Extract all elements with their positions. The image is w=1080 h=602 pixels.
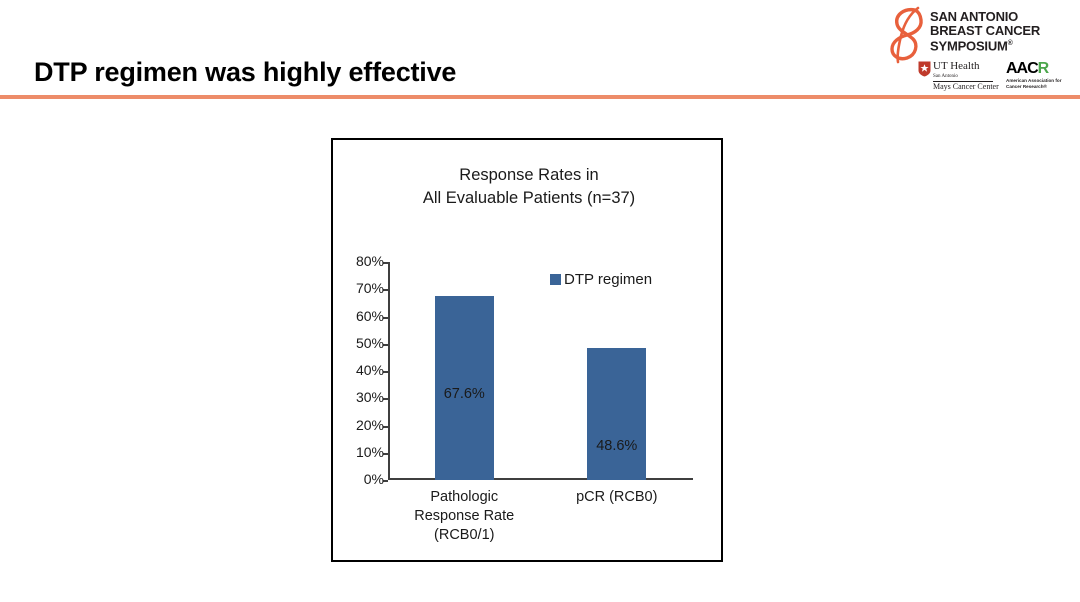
registered-mark: ® — [1008, 40, 1013, 47]
chart-plot-area: 80%70%60%50%40%30%20%10%0% 67.6%48.6% Pa… — [388, 260, 693, 482]
ut-health-center: Mays Cancer Center — [933, 82, 999, 91]
aacr-logo: AACR American Association for Cancer Res… — [1006, 60, 1068, 93]
ut-health-city: San Antonio — [933, 74, 958, 79]
partner-logos: UT Health San Antonio Mays Cancer Center… — [918, 60, 1068, 96]
x-axis-category-label-line: Response Rate — [388, 507, 541, 526]
sabcs-line-3-text: SYMPOSIUM — [930, 38, 1008, 53]
y-axis-tick-label: 80% — [338, 253, 384, 269]
x-axis-category-label-line: pCR (RCB0) — [541, 488, 694, 507]
ut-health-shield-icon — [918, 61, 931, 77]
bar-value-label: 48.6% — [579, 438, 654, 454]
y-axis-tick-label: 40% — [338, 362, 384, 378]
x-axis-category-label: PathologicResponse Rate(RCB0/1) — [388, 488, 541, 545]
y-axis-tick-label: 30% — [338, 389, 384, 405]
x-axis-line — [388, 478, 693, 480]
page-title: DTP regimen was highly effective — [34, 57, 456, 88]
legend-swatch-dtp-regimen — [550, 274, 561, 285]
ut-health-name: UT Health — [933, 60, 980, 72]
sabcs-line-1: SAN ANTONIO — [930, 10, 1068, 24]
y-axis-tick-label: 10% — [338, 444, 384, 460]
y-axis-tick-label: 50% — [338, 335, 384, 351]
sabcs-ribbon-icon — [888, 6, 928, 64]
legend-label-dtp-regimen: DTP regimen — [564, 271, 652, 288]
y-axis-tick-label: 70% — [338, 280, 384, 296]
x-axis-category-label-line: (RCB0/1) — [388, 526, 541, 545]
sabcs-wordmark: SAN ANTONIO BREAST CANCER SYMPOSIUM® — [930, 10, 1068, 53]
sabcs-line-2: BREAST CANCER — [930, 24, 1068, 38]
x-axis-category-label: pCR (RCB0) — [541, 488, 694, 507]
chart-title: Response Rates in All Evaluable Patients… — [333, 164, 725, 210]
chart-title-line-1: Response Rates in — [333, 164, 725, 187]
chart-legend: DTP regimen — [550, 271, 652, 288]
y-axis-tick-label: 60% — [338, 308, 384, 324]
bar — [587, 348, 646, 480]
logo-block: SAN ANTONIO BREAST CANCER SYMPOSIUM® UT … — [888, 4, 1068, 96]
chart-title-line-2: All Evaluable Patients (n=37) — [333, 187, 725, 210]
aacr-wordmark: AACR — [1006, 60, 1048, 78]
y-axis-tick-label: 20% — [338, 417, 384, 433]
bar-value-label: 67.6% — [427, 386, 502, 402]
aacr-wordmark-aac: AAC — [1006, 60, 1038, 77]
aacr-wordmark-r: R — [1038, 60, 1049, 77]
y-axis-line — [388, 262, 390, 480]
ut-health-logo: UT Health San Antonio Mays Cancer Center — [918, 60, 996, 93]
y-axis-tick-label: 0% — [338, 471, 384, 487]
aacr-tagline: American Association for Cancer Research… — [1006, 78, 1068, 90]
sabcs-line-3: SYMPOSIUM® — [930, 37, 1068, 53]
x-axis-category-label-line: Pathologic — [388, 488, 541, 507]
chart-container: Response Rates in All Evaluable Patients… — [331, 138, 723, 562]
